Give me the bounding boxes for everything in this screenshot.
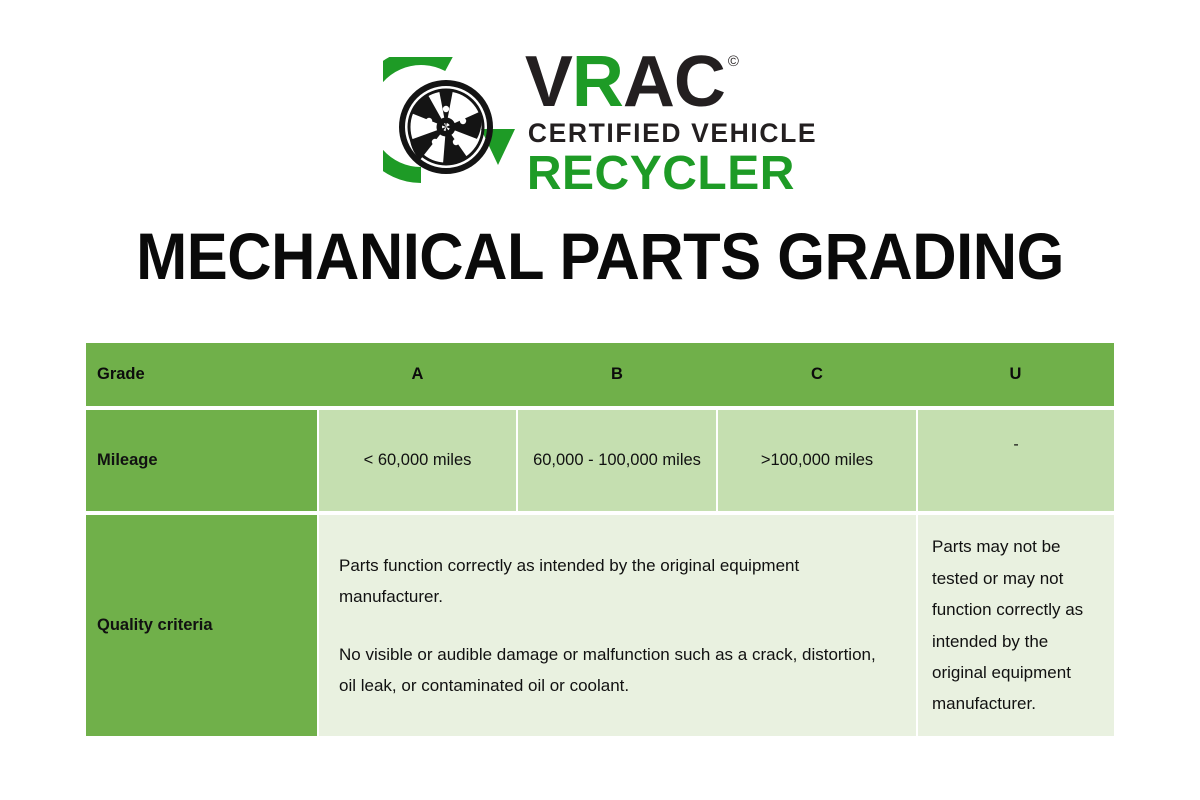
mileage-cell-b: 60,000 - 100,000 miles xyxy=(517,410,717,511)
header-cell-a: A xyxy=(318,343,517,406)
mileage-cell-u-value: - xyxy=(918,433,1114,458)
page-root: VRAC © CERTIFIED VEHICLE RECYCLER MECHAN… xyxy=(0,0,1200,800)
quality-criteria-abc-cell: Parts function correctly as intended by … xyxy=(318,515,917,736)
logo-brand-text: VRAC xyxy=(525,49,725,115)
row-label-mileage: Mileage xyxy=(86,410,318,511)
wheel-recycle-icon xyxy=(383,57,515,189)
mileage-cell-a: < 60,000 miles xyxy=(318,410,517,511)
table-row: Quality criteria Parts function correctl… xyxy=(86,515,1114,736)
quality-criteria-u-cell: Parts may not be tested or may not funct… xyxy=(917,515,1114,736)
table-header-row: Grade A B C U xyxy=(86,343,1114,406)
header-cell-grade: Grade xyxy=(86,343,318,406)
grading-table: Grade A B C U Mileage < 60,000 miles 60,… xyxy=(86,343,1114,736)
brand-logo: VRAC © CERTIFIED VEHICLE RECYCLER xyxy=(0,48,1200,198)
header-cell-b: B xyxy=(517,343,717,406)
quality-criteria-u-text: Parts may not be tested or may not funct… xyxy=(932,531,1096,720)
logo-inner: VRAC © CERTIFIED VEHICLE RECYCLER xyxy=(383,47,817,198)
row-label-quality-criteria: Quality criteria xyxy=(86,515,318,736)
logo-brand-row: VRAC © xyxy=(525,49,817,115)
mileage-cell-u: - xyxy=(917,410,1114,511)
copyright-icon: © xyxy=(728,55,739,69)
header-cell-c: C xyxy=(717,343,917,406)
table-row: Mileage < 60,000 miles 60,000 - 100,000 … xyxy=(86,410,1114,511)
header-cell-u: U xyxy=(917,343,1114,406)
quality-criteria-paragraph-1: Parts function correctly as intended by … xyxy=(339,550,888,613)
logo-tagline-certified: CERTIFIED VEHICLE xyxy=(528,118,817,149)
quality-criteria-paragraph-2: No visible or audible damage or malfunct… xyxy=(339,639,888,702)
page-title: MECHANICAL PARTS GRADING xyxy=(42,218,1158,294)
logo-wordmark: VRAC © CERTIFIED VEHICLE RECYCLER xyxy=(525,47,817,198)
logo-tagline-recycler: RECYCLER xyxy=(527,150,817,199)
mileage-cell-c: >100,000 miles xyxy=(717,410,917,511)
